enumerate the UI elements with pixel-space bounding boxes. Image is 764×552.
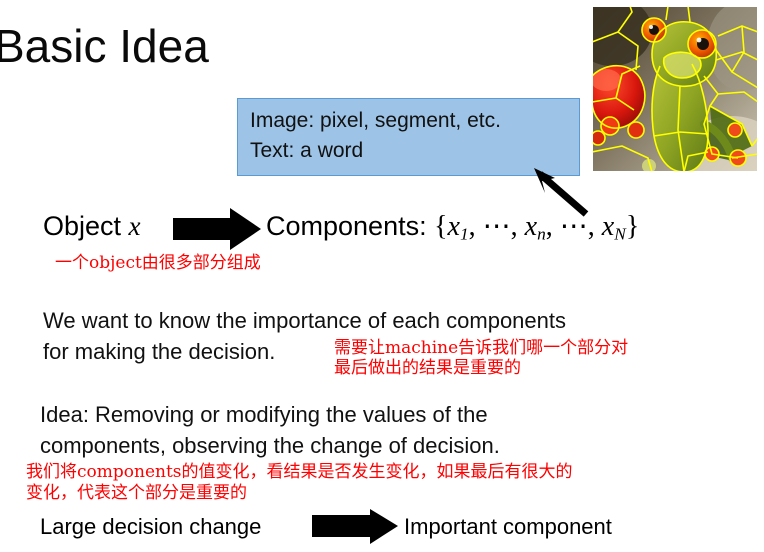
object-label: Object x: [43, 209, 141, 243]
annotation-components-note: 我们将components的值变化，看结果是否发生变化，如果最后有很大的 变化，…: [26, 462, 573, 504]
formula-x1-sub: 1: [460, 224, 469, 243]
body-paragraph2-line2: components, observing the change of deci…: [40, 431, 500, 460]
formula-xn: x: [525, 211, 537, 242]
components-word: Components:: [266, 211, 434, 241]
annotation-components-line1: 我们将components的值变化，看结果是否发生变化，如果最后有很大的: [26, 462, 573, 483]
components-formula: {x1, ⋯, xn, ⋯, xN}: [434, 211, 639, 242]
formula-xN: x: [602, 211, 614, 242]
annotation-importance-line2: 最后做出的结果是重要的: [334, 358, 628, 378]
formula-xn-sub: n: [537, 224, 546, 243]
conclusion-right-label: Important component: [404, 512, 612, 541]
callout-box: Image: pixel, segment, etc. Text: a word: [237, 98, 580, 176]
annotation-importance-line1: 需要让machine告诉我们哪一个部分对: [334, 338, 628, 358]
formula-close-brace: }: [626, 211, 639, 242]
formula-open-brace: {: [434, 211, 447, 242]
object-to-components-arrow: [173, 208, 263, 250]
object-variable: x: [129, 211, 141, 241]
formula-dots2: , ⋯,: [546, 211, 602, 242]
formula-x1: x: [448, 211, 460, 242]
page-title: Basic Idea: [0, 18, 209, 74]
object-word: Object: [43, 211, 129, 241]
body-paragraph2-line1: Idea: Removing or modifying the values o…: [40, 400, 488, 429]
formula-dots1: , ⋯,: [469, 211, 525, 242]
formula-xN-sub: N: [614, 224, 626, 243]
slide-canvas: Basic Idea: [0, 0, 764, 552]
components-label: Components: {x1, ⋯, xn, ⋯, xN}: [266, 209, 639, 251]
annotation-components-line2: 变化，代表这个部分是重要的: [26, 483, 573, 504]
callout-line-image: Image: pixel, segment, etc.: [250, 108, 501, 134]
body-paragraph1-line2: for making the decision.: [43, 337, 275, 366]
annotation-object-note: 一个object由很多部分组成: [55, 252, 261, 274]
conclusion-arrow: [312, 509, 400, 545]
annotation-importance-note: 需要让machine告诉我们哪一个部分对 最后做出的结果是重要的: [334, 338, 628, 378]
body-paragraph1-line1: We want to know the importance of each c…: [43, 306, 566, 335]
segmented-frog-photo: [592, 6, 758, 172]
callout-line-text: Text: a word: [250, 138, 363, 164]
conclusion-left-label: Large decision change: [40, 512, 261, 541]
